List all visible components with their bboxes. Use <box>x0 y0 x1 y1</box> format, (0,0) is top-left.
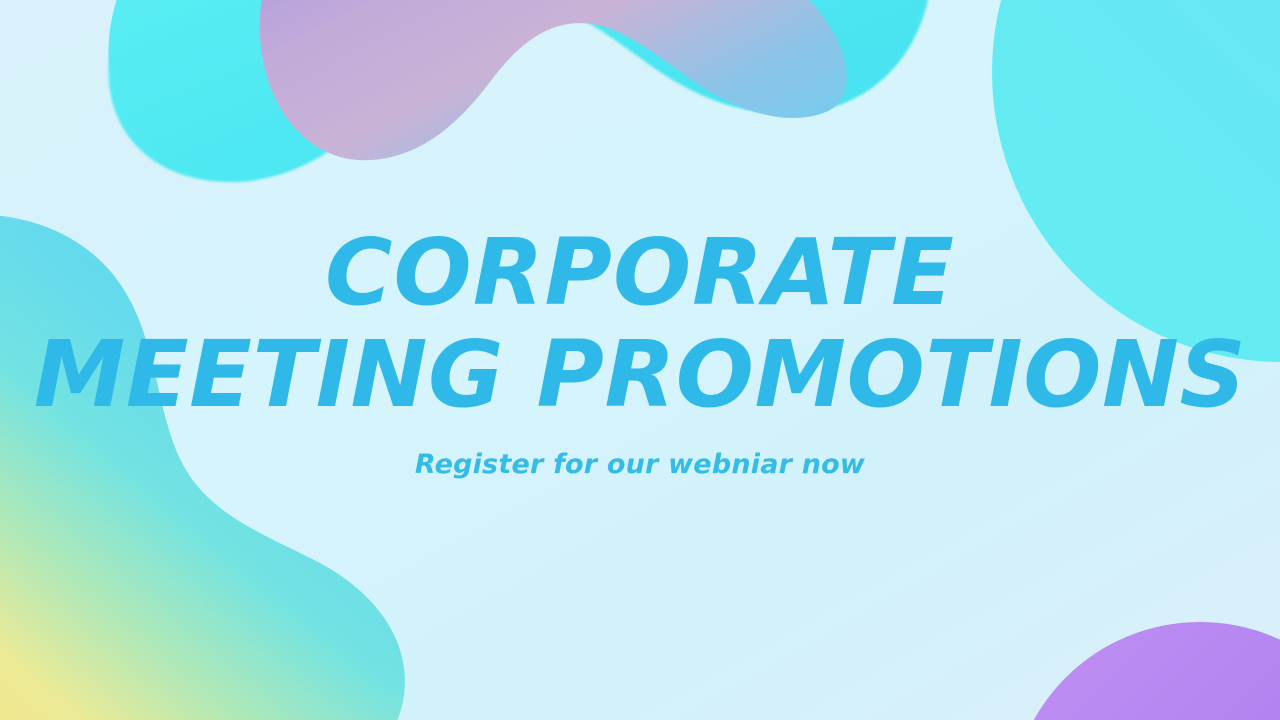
poster-content: CORPORATE MEETING PROMOTIONS Register fo… <box>0 0 1280 720</box>
center-stack: CORPORATE MEETING PROMOTIONS Register fo… <box>34 228 1246 479</box>
headline-line-2: MEETING PROMOTIONS <box>34 330 1246 419</box>
subtitle-call-to-action: Register for our webniar now <box>415 449 865 480</box>
headline-line-1: CORPORATE <box>34 228 1246 317</box>
page-title: CORPORATE MEETING PROMOTIONS <box>34 228 1246 418</box>
promo-poster: CORPORATE MEETING PROMOTIONS Register fo… <box>0 0 1280 720</box>
